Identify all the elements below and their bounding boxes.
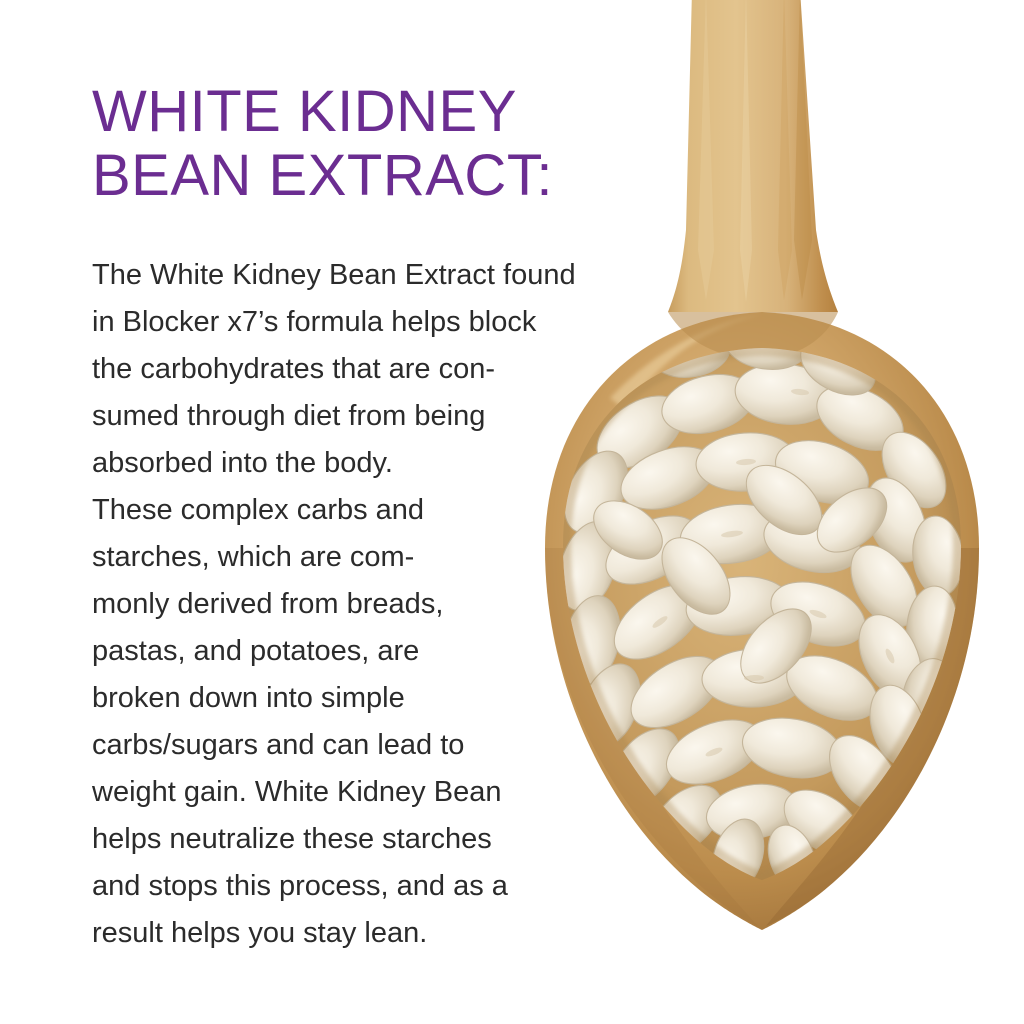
spoon-handle [668,0,838,312]
spoon-illustration [500,0,1024,1024]
wooden-spoon-with-beans-image [500,0,1024,1024]
product-info-panel: WHITE KIDNEY BEAN EXTRACT: The White Kid… [0,0,1024,1024]
